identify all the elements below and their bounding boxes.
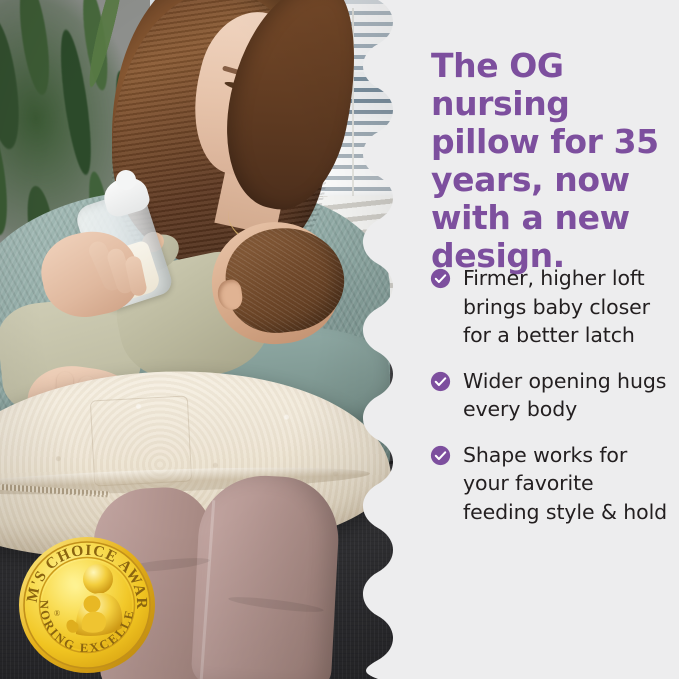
copy-panel: The OG nursing pillow for 35 years, now …: [402, 0, 679, 679]
list-item: Firmer, higher loft brings baby closer f…: [430, 264, 674, 350]
feature-text: Shape works for your favorite feeding st…: [463, 441, 674, 527]
check-circle-icon: [430, 445, 451, 466]
feature-text: Wider opening hugs every body: [463, 367, 674, 424]
list-item: Shape works for your favorite feeding st…: [430, 441, 674, 527]
list-item: Wider opening hugs every body: [430, 367, 674, 424]
feature-text: Firmer, higher loft brings baby closer f…: [463, 264, 674, 350]
check-circle-icon: [430, 268, 451, 289]
registered-trademark-mark: ®: [54, 609, 60, 618]
feature-list: Firmer, higher loft brings baby closer f…: [430, 264, 674, 543]
page-title: The OG nursing pillow for 35 years, now …: [431, 47, 679, 275]
check-circle-icon: [430, 371, 451, 392]
product-feature-card: The OG nursing pillow for 35 years, now …: [0, 0, 679, 679]
moms-choice-awards-badge: MOM'S CHOICE AWARDS HONORING EXCELLENCE …: [18, 536, 156, 674]
